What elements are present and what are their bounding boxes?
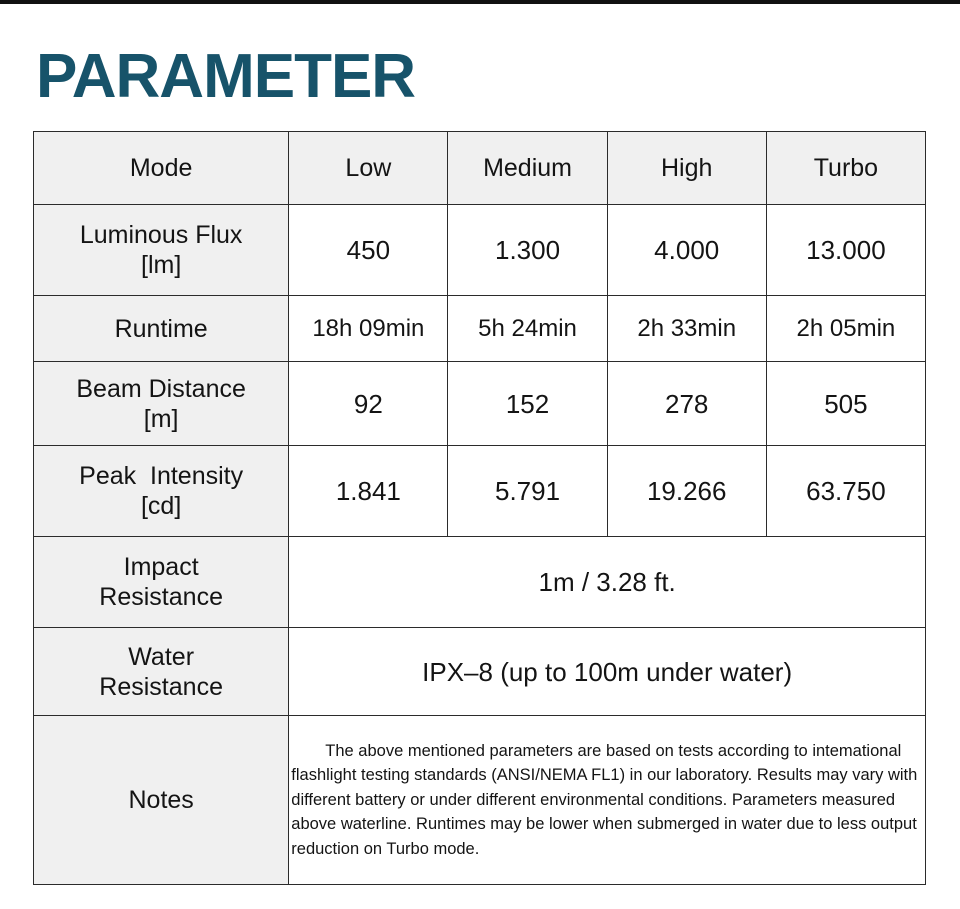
column-header-mode: Mode (34, 132, 289, 205)
cell-runtime-high: 2h 33min (607, 296, 766, 362)
row-label-beam-distance: Beam Distance [m] (34, 362, 289, 446)
cell-luminous-flux-low: 450 (289, 205, 448, 296)
page-title: PARAMETER (36, 44, 415, 110)
column-header-low: Low (289, 132, 448, 205)
top-edge-strip (0, 0, 960, 4)
cell-peak-intensity-high: 19.266 (607, 446, 766, 537)
cell-runtime-turbo: 2h 05min (766, 296, 925, 362)
row-label-notes: Notes (34, 716, 289, 885)
cell-water-resistance-value: IPX–8 (up to 100m under water) (289, 628, 926, 716)
cell-notes-value: The above mentioned parameters are based… (289, 716, 926, 885)
column-header-medium: Medium (448, 132, 607, 205)
cell-luminous-flux-medium: 1.300 (448, 205, 607, 296)
table-row: Peak Intensity [cd] 1.841 5.791 19.266 6… (34, 446, 926, 537)
table-row: Water Resistance IPX–8 (up to 100m under… (34, 628, 926, 716)
table-row: Impact Resistance 1m / 3.28 ft. (34, 537, 926, 628)
cell-luminous-flux-turbo: 13.000 (766, 205, 925, 296)
row-label-water-resistance: Water Resistance (34, 628, 289, 716)
column-header-high: High (607, 132, 766, 205)
cell-luminous-flux-high: 4.000 (607, 205, 766, 296)
table-row: Notes The above mentioned parameters are… (34, 716, 926, 885)
cell-peak-intensity-turbo: 63.750 (766, 446, 925, 537)
cell-peak-intensity-low: 1.841 (289, 446, 448, 537)
cell-peak-intensity-medium: 5.791 (448, 446, 607, 537)
cell-beam-distance-medium: 152 (448, 362, 607, 446)
table-header-row: Mode Low Medium High Turbo (34, 132, 926, 205)
notes-paragraph: The above mentioned parameters are based… (291, 739, 923, 862)
table-row: Beam Distance [m] 92 152 278 505 (34, 362, 926, 446)
table-row: Runtime 18h 09min 5h 24min 2h 33min 2h 0… (34, 296, 926, 362)
parameter-table: Mode Low Medium High Turbo Luminous Flux… (33, 131, 926, 885)
column-header-turbo: Turbo (766, 132, 925, 205)
cell-impact-resistance-value: 1m / 3.28 ft. (289, 537, 926, 628)
parameter-spec-page: PARAMETER Mode Low Medium High Turbo Lum… (0, 0, 960, 909)
row-label-runtime: Runtime (34, 296, 289, 362)
cell-beam-distance-high: 278 (607, 362, 766, 446)
cell-runtime-low: 18h 09min (289, 296, 448, 362)
cell-beam-distance-low: 92 (289, 362, 448, 446)
row-label-impact-resistance: Impact Resistance (34, 537, 289, 628)
cell-runtime-medium: 5h 24min (448, 296, 607, 362)
row-label-peak-intensity: Peak Intensity [cd] (34, 446, 289, 537)
table-row: Luminous Flux [lm] 450 1.300 4.000 13.00… (34, 205, 926, 296)
cell-beam-distance-turbo: 505 (766, 362, 925, 446)
row-label-luminous-flux: Luminous Flux [lm] (34, 205, 289, 296)
